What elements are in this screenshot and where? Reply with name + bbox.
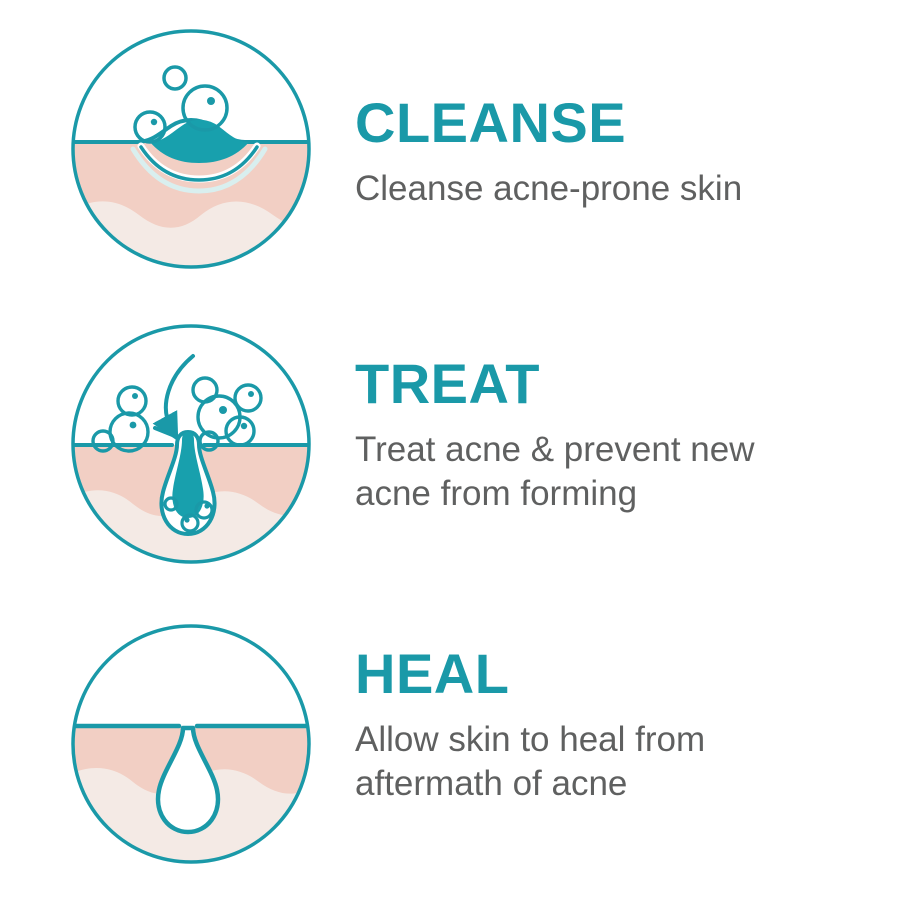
step-row-treat: TREAT Treat acne & prevent new acne from…: [0, 324, 897, 574]
step-title-cleanse: CLEANSE: [355, 95, 897, 151]
cleanse-text-block: CLEANSE Cleanse acne-prone skin: [355, 29, 897, 211]
desc-line: Cleanse acne-prone skin: [355, 167, 875, 211]
step-row-cleanse: CLEANSE Cleanse acne-prone skin: [0, 29, 897, 279]
step-description-treat: Treat acne & prevent new acne from formi…: [355, 428, 875, 517]
desc-line: acne from forming: [355, 472, 875, 516]
treat-text-block: TREAT Treat acne & prevent new acne from…: [355, 324, 897, 517]
heal-clean-pore-icon: [71, 624, 311, 864]
treat-pore-arrow-bubbles-icon: [71, 324, 311, 564]
step-title-heal: HEAL: [355, 646, 897, 702]
step-description-cleanse: Cleanse acne-prone skin: [355, 167, 875, 211]
cleanse-skin-bubbles-icon: [71, 29, 311, 269]
desc-line: Treat acne & prevent new: [355, 428, 875, 472]
step-title-treat: TREAT: [355, 356, 897, 412]
acne-routine-infographic: CLEANSE Cleanse acne-prone skin: [0, 0, 897, 897]
step-row-heal: HEAL Allow skin to heal from aftermath o…: [0, 624, 897, 874]
desc-line: aftermath of acne: [355, 762, 875, 806]
desc-line: Allow skin to heal from: [355, 718, 875, 762]
heal-text-block: HEAL Allow skin to heal from aftermath o…: [355, 624, 897, 807]
step-description-heal: Allow skin to heal from aftermath of acn…: [355, 718, 875, 807]
